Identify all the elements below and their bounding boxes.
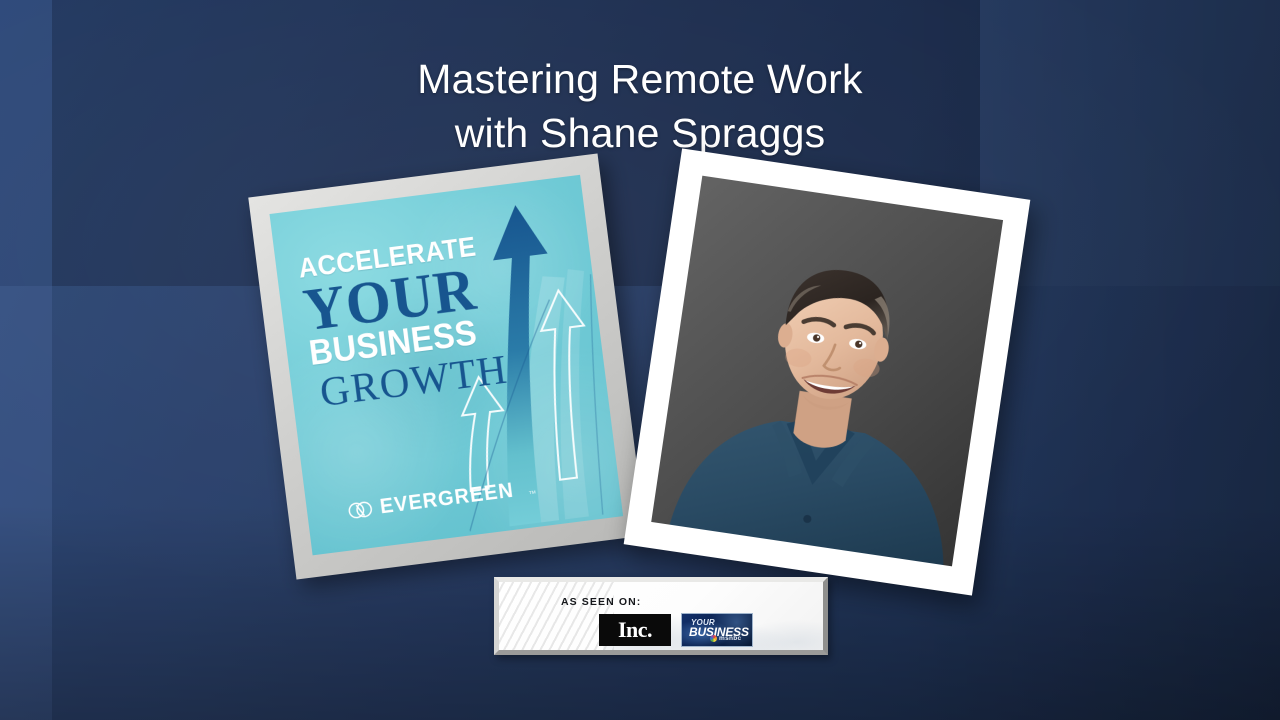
- peacock-icon: [710, 635, 717, 642]
- evergreen-mark-icon: [346, 495, 375, 524]
- cover-art-frame: ACCELERATE YOUR BUSINESS GROWTH EVERGREE…: [248, 153, 645, 579]
- title-line-1: Mastering Remote Work: [0, 52, 1280, 106]
- inc-logo-text: Inc.: [618, 619, 652, 641]
- msnbc-network-name: msnbc: [719, 635, 741, 642]
- photo-frame: [624, 148, 1031, 595]
- badge-stripe-pattern: [499, 582, 614, 650]
- inc-magazine-logo: Inc.: [599, 614, 671, 646]
- slide-title: Mastering Remote Work with Shane Spraggs: [0, 52, 1280, 160]
- cover-art-image: ACCELERATE YOUR BUSINESS GROWTH EVERGREE…: [269, 175, 623, 556]
- speaker-photo: [624, 148, 1031, 595]
- msnbc-network-tag: msnbc: [710, 635, 741, 642]
- presentation-slide: Mastering Remote Work with Shane Spraggs: [0, 0, 1280, 720]
- as-seen-on-label: AS SEEN ON:: [561, 596, 641, 608]
- title-line-2: with Shane Spraggs: [0, 106, 1280, 160]
- photo-image: [651, 176, 1003, 567]
- cover-art-text: ACCELERATE YOUR BUSINESS GROWTH: [297, 228, 530, 413]
- podcast-cover-art: ACCELERATE YOUR BUSINESS GROWTH EVERGREE…: [248, 153, 645, 579]
- as-seen-on-badge: AS SEEN ON: Inc. YOUR BUSINESS msnbc: [494, 577, 828, 655]
- msnbc-your-business-logo: YOUR BUSINESS msnbc: [681, 613, 753, 647]
- evergreen-trademark: ™: [528, 489, 537, 499]
- headshot-portrait-icon: [651, 176, 1003, 567]
